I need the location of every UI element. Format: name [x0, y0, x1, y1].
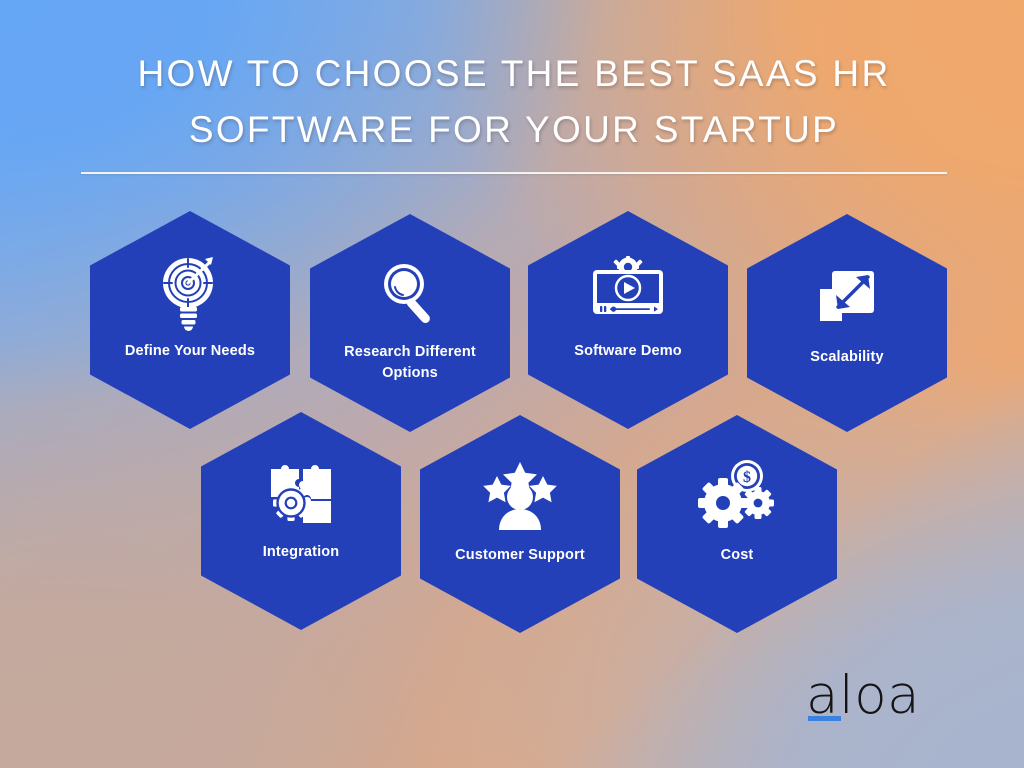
title-divider: [81, 172, 947, 174]
logo-underline-accent: [808, 716, 841, 721]
step-tile-cost[interactable]: $: [637, 415, 837, 633]
step-tile-software-demo[interactable]: × Software Demo: [528, 211, 728, 429]
step-tile-integration[interactable]: Integration: [201, 412, 401, 630]
step-tile-define-your-needs[interactable]: Define Your Needs: [90, 211, 290, 429]
step-label: Software Demo: [553, 341, 703, 362]
person-stars-icon: [480, 457, 560, 535]
title-line-1: HOW TO CHOOSE THE BEST SAAS HR: [80, 46, 948, 102]
step-tile-scalability[interactable]: Scalability: [747, 214, 947, 432]
step-tile-customer-support[interactable]: Customer Support: [420, 415, 620, 633]
gears-dollar-coin-icon: $: [697, 457, 777, 535]
svg-text:×: ×: [603, 274, 608, 284]
title-line-2: SOFTWARE FOR YOUR STARTUP: [80, 102, 948, 158]
step-label: Define Your Needs: [115, 341, 265, 362]
page-title: HOW TO CHOOSE THE BEST SAAS HR SOFTWARE …: [80, 46, 948, 158]
step-label: Research Different Options: [335, 342, 485, 384]
step-label: Customer Support: [445, 545, 595, 566]
step-label: Scalability: [772, 347, 922, 368]
resize-arrow-icon: [812, 259, 882, 337]
svg-text:$: $: [743, 469, 751, 486]
step-label: Cost: [662, 545, 812, 566]
magnifying-glass-icon: [373, 254, 447, 332]
lightbulb-target-icon: [155, 253, 225, 331]
aloa-logo: aloa: [806, 668, 926, 730]
video-player-gear-icon: ×: [586, 253, 670, 331]
step-tile-research-different-options[interactable]: Research Different Options: [310, 214, 510, 432]
step-label: Integration: [226, 542, 376, 563]
infographic-canvas: HOW TO CHOOSE THE BEST SAAS HR SOFTWARE …: [0, 0, 1024, 768]
puzzle-gear-icon: [265, 454, 337, 532]
